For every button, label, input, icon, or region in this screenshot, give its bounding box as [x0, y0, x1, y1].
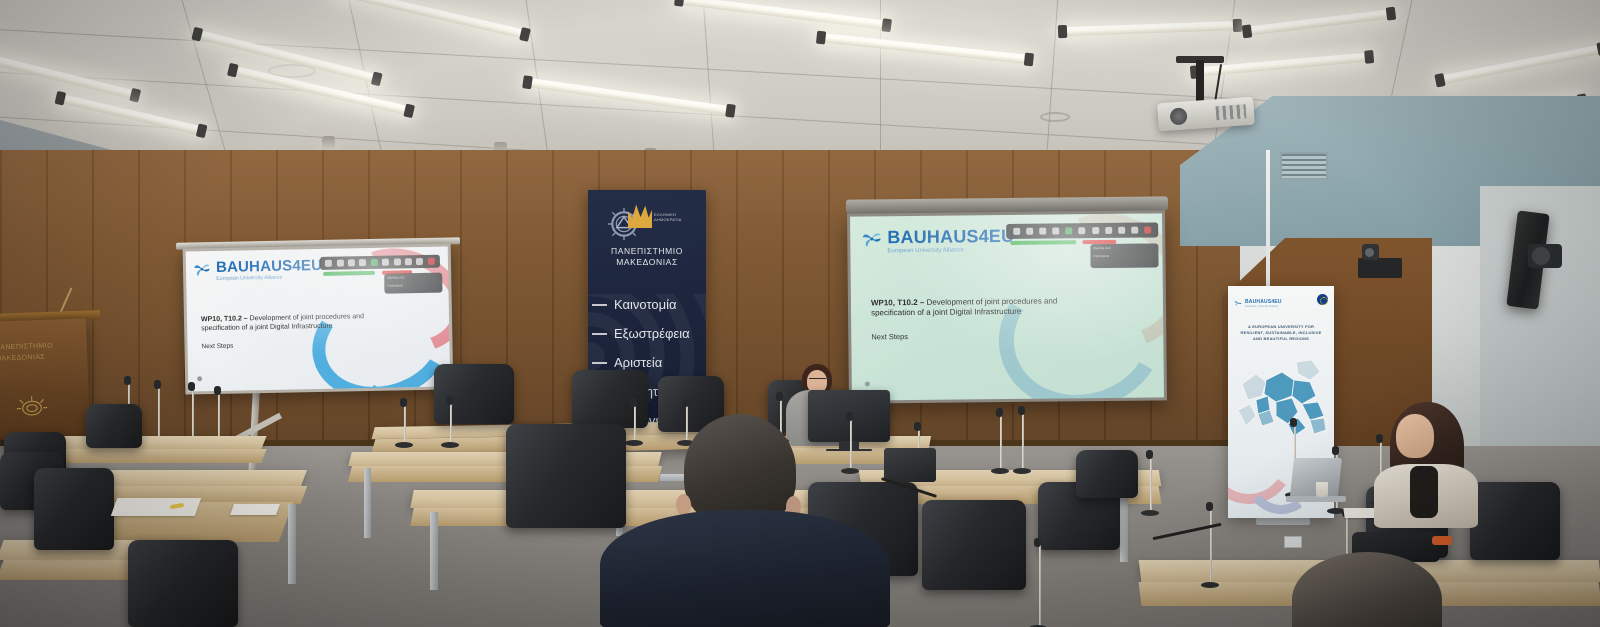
desk-front-panel	[47, 449, 267, 463]
desk-microphone	[448, 402, 451, 444]
lectern-emblem-icon	[15, 394, 50, 421]
chair[interactable]	[34, 468, 114, 550]
speaker-mount-bracket	[1528, 244, 1562, 268]
university-name: ΠΑΝΕΠΙΣΤΗΜΙΟ ΜΑΚΕΔΟΝΙΑΣ	[588, 246, 706, 269]
coffee-cup	[1316, 482, 1328, 497]
rollup-banner-stand	[1256, 518, 1310, 525]
projection-screen-left: BAUHAUS4EU European University Alliance	[183, 243, 454, 394]
vc-status-green	[1010, 240, 1076, 245]
chair[interactable]	[1470, 482, 1560, 560]
torso	[600, 510, 890, 627]
lectern-text: ΠΑΝΕΠΙΣΤΗΜΙΟ ΜΑΚΕΔΟΝΙΑΣ	[0, 340, 87, 364]
ceiling-light-tube	[0, 53, 139, 100]
chair[interactable]	[434, 364, 514, 424]
hair	[1292, 552, 1442, 627]
grid-icon[interactable]	[1013, 228, 1020, 235]
slide-right: BAUHAUS4EU European University Alliance	[850, 213, 1164, 400]
slide-subtitle: Next Steps	[871, 332, 908, 341]
air-vent-icon	[1280, 152, 1328, 180]
ceiling-light-tube	[676, 0, 890, 30]
bauhaus4eu-pinwheel-icon	[861, 228, 882, 254]
wall-socket	[1284, 536, 1302, 548]
slide-title: WP10, T10.2 – Development of joint proce…	[201, 312, 381, 334]
projector-ports	[1215, 104, 1246, 120]
desk-microphone	[1208, 508, 1212, 584]
grid-icon[interactable]	[325, 260, 332, 267]
vc-panel-sub: Participants	[384, 281, 442, 290]
mic-icon[interactable]	[371, 259, 378, 266]
rollup-logo: BAUHAUS4EU European University Alliance	[1234, 294, 1282, 312]
vc-side-panel[interactable]: Meeting chat Participants	[1090, 243, 1158, 268]
record-icon[interactable]	[1105, 227, 1112, 234]
bag-accent	[1432, 536, 1452, 545]
projector-mount-pole	[1196, 60, 1204, 104]
ceiling-light-tube	[818, 33, 1032, 64]
person-attendee-right	[1374, 402, 1478, 522]
smoke-detector-icon	[1040, 112, 1070, 122]
ceiling-light-tube	[1437, 44, 1600, 85]
share-icon[interactable]	[1092, 227, 1099, 234]
desk-microphone	[1148, 456, 1151, 512]
europe-map-graphic	[1236, 356, 1328, 446]
desk-microphone	[156, 386, 159, 442]
desk-microphone	[402, 404, 405, 444]
slide-title-bold: WP10, T10.2 –	[201, 315, 248, 323]
slide-logo: BAUHAUS4EU European University Alliance	[193, 258, 323, 283]
slide-left: BAUHAUS4EU European University Alliance	[186, 246, 451, 391]
list-icon[interactable]	[1026, 228, 1033, 235]
chat-icon[interactable]	[359, 259, 366, 266]
share-icon[interactable]	[393, 258, 400, 265]
camera-icon[interactable]	[382, 259, 389, 266]
person-attendee-bottom-right	[1272, 552, 1462, 627]
slide-brand-name: BAUHAUS4EU	[887, 227, 1014, 246]
ceiling-light-tube	[229, 65, 412, 116]
head	[1396, 414, 1434, 458]
projection-screen-right: BAUHAUS4EU European University Alliance	[847, 210, 1167, 403]
ceiling-light-tube	[1244, 9, 1394, 36]
glasses-icon	[809, 378, 826, 382]
mic-icon[interactable]	[1066, 227, 1073, 234]
ceiling-light-tube	[1060, 21, 1240, 36]
rollup-tagline: A EUROPEAN UNIVERSITY FOR RESILIENT, SUS…	[1238, 324, 1324, 342]
desk-leg	[1120, 490, 1128, 562]
desk-leg	[288, 504, 296, 584]
record-icon[interactable]	[405, 258, 412, 265]
value-item: Καινοτομία	[614, 298, 706, 311]
desk-microphone	[190, 388, 193, 440]
camera-icon[interactable]	[1079, 227, 1086, 234]
wall-camera	[1358, 258, 1402, 278]
video-conference-toolbar[interactable]	[1006, 222, 1158, 239]
hellenic-republic-label: ΕΛΛΗΝΙΚΗ ΔΗΜΟΚΡΑΤΙΑ	[654, 212, 682, 222]
desk	[47, 436, 266, 449]
ceiling-light-tube	[332, 0, 529, 39]
people-icon[interactable]	[348, 259, 355, 266]
desk-leg	[364, 468, 371, 538]
bauhaus4eu-pinwheel-icon	[193, 260, 211, 283]
chat-icon[interactable]	[1052, 227, 1059, 234]
leave-icon[interactable]	[428, 258, 435, 265]
slide-title-bold: WP10, T10.2 –	[871, 298, 924, 308]
desk-microphone	[1020, 412, 1023, 470]
slide-title: WP10, T10.2 – Development of joint proce…	[871, 296, 1089, 319]
vc-panel-sub: Participants	[1090, 251, 1158, 260]
slide-bullet-dot	[865, 381, 870, 386]
bauhaus4eu-pinwheel-icon	[1234, 294, 1242, 312]
paper-sheet	[111, 498, 202, 516]
chair[interactable]	[86, 404, 142, 448]
reaction-icon[interactable]	[1118, 227, 1125, 234]
person-attendee-foreground	[600, 410, 890, 627]
value-item: Εξωστρέφεια	[614, 327, 706, 340]
projector-lens-icon	[1170, 107, 1188, 125]
desk-leg	[430, 512, 438, 590]
chair[interactable]	[128, 540, 238, 627]
reaction-icon[interactable]	[416, 258, 423, 265]
slide-subtitle: Next Steps	[201, 343, 233, 351]
slide-logo: BAUHAUS4EU European University Alliance	[861, 227, 1014, 255]
value-item: Αριστεία	[614, 356, 706, 369]
dark-top-under-cardigan	[1410, 466, 1438, 518]
slide-brand-name: BAUHAUS4EU	[216, 258, 322, 275]
desk-microphone	[1036, 544, 1041, 627]
lectern: ΠΑΝΕΠΙΣΤΗΜΙΟ ΜΑΚΕΔΟΝΙΑΣ	[0, 318, 90, 439]
eu-flag-icon	[1317, 294, 1328, 305]
slide-bullet-dot	[197, 376, 202, 381]
desk-microphone	[998, 414, 1001, 470]
chair[interactable]	[1076, 450, 1138, 498]
chair[interactable]	[922, 500, 1026, 590]
vc-side-panel[interactable]: Meeting chat Participants	[384, 273, 442, 294]
rollup-brand-name: BAUHAUS4EU	[1245, 299, 1282, 305]
video-conference-toolbar[interactable]	[320, 255, 440, 270]
cable-tray	[884, 448, 936, 482]
rollup-brand-tagline: European University Alliance	[1245, 305, 1282, 308]
paper-sheet	[230, 504, 280, 515]
apps-icon[interactable]	[1131, 227, 1138, 234]
leave-icon[interactable]	[1144, 226, 1151, 233]
lecture-hall-scene: BAUHAUS4EU European University Alliance	[0, 0, 1600, 627]
people-icon[interactable]	[1039, 228, 1046, 235]
list-icon[interactable]	[336, 260, 343, 267]
